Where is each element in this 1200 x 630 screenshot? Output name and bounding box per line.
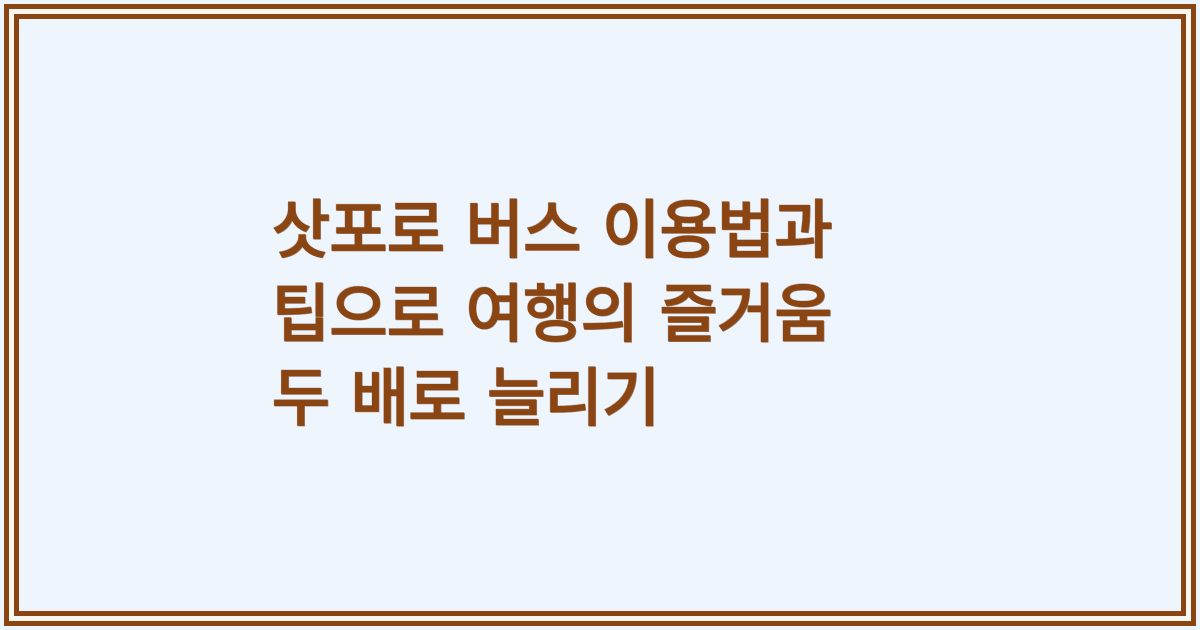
page-title: 삿포로 버스 이용법과 팁으로 여행의 즐거움 두 배로 늘리기	[272, 189, 1131, 441]
title-block: 삿포로 버스 이용법과 팁으로 여행의 즐거움 두 배로 늘리기	[19, 189, 1181, 441]
thumbnail-card: 삿포로 버스 이용법과 팁으로 여행의 즐거움 두 배로 늘리기	[0, 0, 1200, 630]
outer-border-frame: 삿포로 버스 이용법과 팁으로 여행의 즐거움 두 배로 늘리기	[4, 4, 1196, 626]
inner-border-frame: 삿포로 버스 이용법과 팁으로 여행의 즐거움 두 배로 늘리기	[14, 14, 1186, 616]
